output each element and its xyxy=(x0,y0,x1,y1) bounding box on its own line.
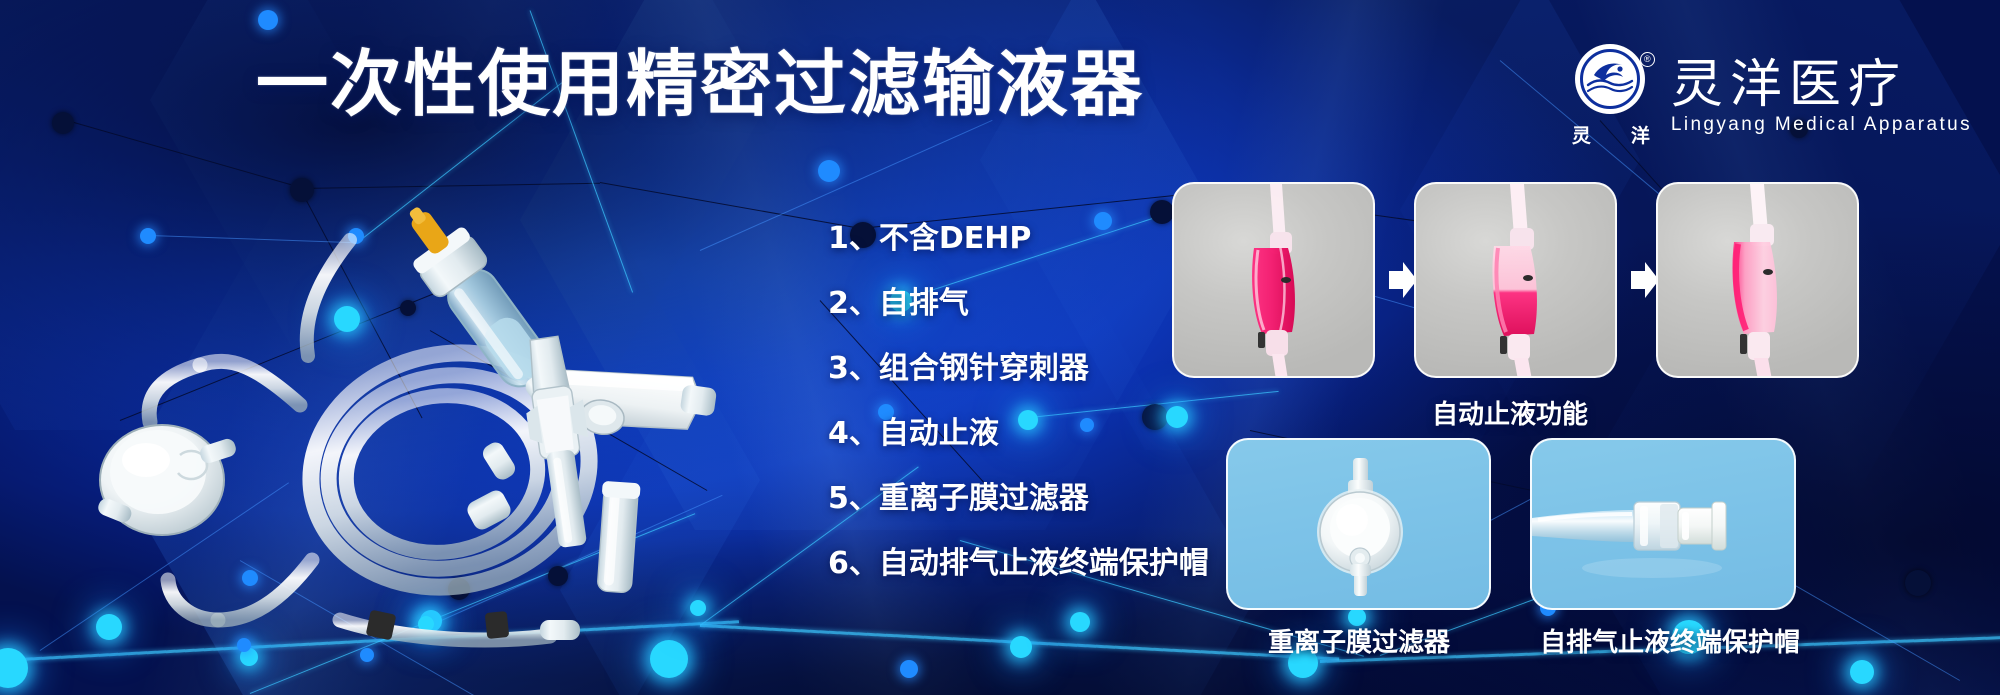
auto-stop-photo-1 xyxy=(1172,182,1375,378)
logo-emblem-label: 灵 洋 xyxy=(1569,121,1653,148)
feature-item-1: 1、不含DEHP xyxy=(828,224,1209,254)
caption-heavy-ion-filter: 重离子膜过滤器 xyxy=(1268,622,1450,659)
feature-item-3: 3、组合钢针穿刺器 xyxy=(828,354,1209,384)
feature-item-5: 5、重离子膜过滤器 xyxy=(828,484,1209,514)
brand-name-block: 灵洋医疗 Lingyang Medical Apparatus xyxy=(1671,59,1972,134)
feature-item-2: 2、自排气 xyxy=(828,289,1209,319)
page-title: 一次性使用精密过滤输液器 xyxy=(256,48,1144,120)
caption-vent-stop-cap: 自排气止液终端保护帽 xyxy=(1540,622,1800,659)
terminal-cap-part xyxy=(595,481,641,593)
product-banner: 一次性使用精密过滤输液器 ® 灵 洋 灵洋医疗 Lingyang Medical… xyxy=(0,0,2000,695)
heavy-ion-filter-photo xyxy=(1226,438,1491,610)
logo-char-left: 灵 xyxy=(1572,121,1591,148)
logo-char-right: 洋 xyxy=(1631,121,1650,148)
auto-stop-photo-3 xyxy=(1656,182,1859,378)
feature-list: 1、不含DEHP 2、自排气 3、组合钢针穿刺器 4、自动止液 5、重离子膜过滤… xyxy=(828,224,1209,579)
round-filter-part xyxy=(96,425,238,535)
lower-tube-part xyxy=(340,610,580,641)
feature-item-4: 4、自动止液 xyxy=(828,419,1209,449)
auto-stop-photo-2 xyxy=(1414,182,1617,378)
brand-name-cn: 灵洋医疗 xyxy=(1671,59,1972,111)
logo-wave-icon xyxy=(1580,49,1640,109)
registered-trademark-icon: ® xyxy=(1640,52,1655,67)
product-photo-infusion-set xyxy=(50,150,770,670)
logo-emblem-icon: ® 灵 洋 xyxy=(1569,44,1653,148)
feature-item-6: 6、自动排气止液终端保护帽 xyxy=(828,549,1209,579)
vent-stop-cap-photo xyxy=(1530,438,1796,610)
brand-logo: ® 灵 洋 灵洋医疗 Lingyang Medical Apparatus xyxy=(1569,44,1972,148)
caption-auto-stop: 自动止液功能 xyxy=(1432,394,1588,431)
brand-name-en: Lingyang Medical Apparatus xyxy=(1671,115,1972,134)
